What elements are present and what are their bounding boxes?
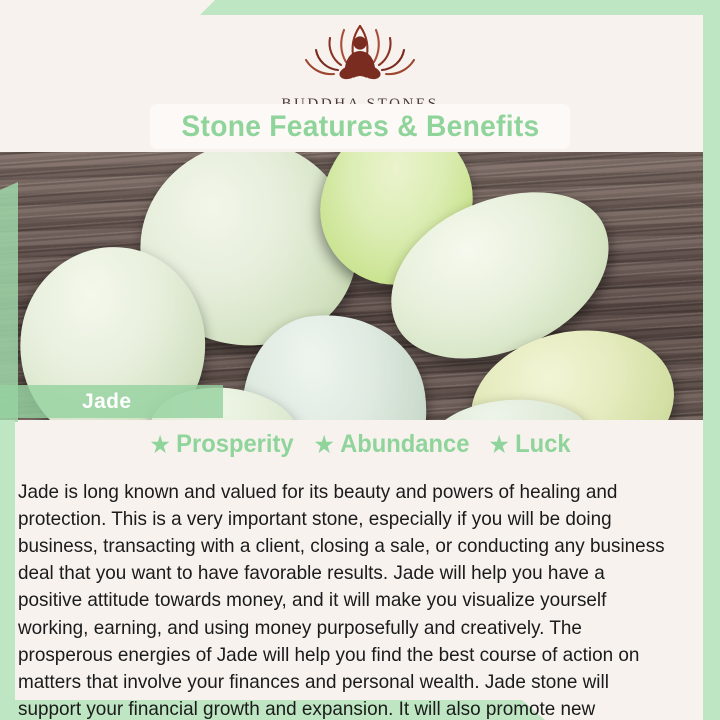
star-icon: ★: [151, 432, 170, 458]
benefit-item-abundance: ★ Abundance: [302, 430, 470, 459]
star-icon: ★: [490, 432, 509, 458]
stone-name-label: Jade: [82, 390, 131, 414]
benefit-item-luck: ★ Luck: [477, 430, 571, 459]
benefit-label: Abundance: [340, 430, 469, 459]
stone-description: Jade is long known and valued for its be…: [18, 479, 674, 720]
stone-name-band: Jade: [0, 385, 223, 418]
lotus-meditation-icon: [296, 16, 424, 92]
title-banner: Stone Features & Benefits: [150, 104, 570, 149]
benefit-label: Luck: [515, 430, 570, 459]
decorative-left-green-bar-text: [0, 420, 15, 720]
page-title: Stone Features & Benefits: [181, 110, 539, 144]
jade-stones-photo: [0, 152, 703, 420]
benefit-item-prosperity: ★ Prosperity: [151, 430, 294, 459]
decorative-top-green-band: [0, 0, 720, 15]
stone-features-infographic: BUDDHA STONES Stone Features & Benefits …: [0, 0, 720, 720]
star-icon: ★: [315, 432, 334, 458]
brand-logo: BUDDHA STONES: [0, 16, 720, 113]
benefit-label: Prosperity: [176, 430, 293, 459]
decorative-right-green-bar: [703, 14, 720, 720]
benefits-row: ★ Prosperity ★ Abundance ★ Luck: [0, 430, 720, 459]
